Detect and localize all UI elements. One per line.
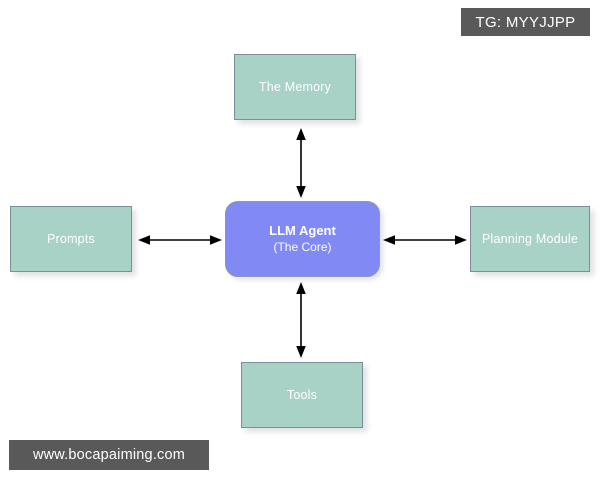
node-planning-module[interactable]: Planning Module bbox=[470, 206, 590, 272]
node-llm-agent-subtitle: (The Core) bbox=[273, 240, 331, 255]
tg-badge: TG: MYYJJPP bbox=[461, 8, 590, 36]
node-the-memory-label: The Memory bbox=[259, 80, 331, 95]
connector-core-to-planning-arrow bbox=[383, 227, 467, 253]
tg-badge-text: TG: MYYJJPP bbox=[476, 14, 576, 31]
website-watermark-text: www.bocapaiming.com bbox=[33, 447, 185, 463]
node-prompts-label: Prompts bbox=[47, 232, 95, 247]
node-prompts[interactable]: Prompts bbox=[10, 206, 132, 272]
node-tools-label: Tools bbox=[287, 388, 317, 403]
node-llm-agent-title: LLM Agent bbox=[269, 223, 336, 239]
node-the-memory[interactable]: The Memory bbox=[234, 54, 356, 120]
node-tools[interactable]: Tools bbox=[241, 362, 363, 428]
website-watermark: www.bocapaiming.com bbox=[9, 440, 209, 470]
connector-core-to-prompts-arrow bbox=[138, 227, 222, 253]
connector-core-to-memory-arrow bbox=[288, 128, 314, 198]
connector-core-to-tools-arrow bbox=[288, 282, 314, 358]
diagram-canvas: The Memory Prompts Planning Module Tools… bbox=[0, 0, 600, 480]
node-planning-module-label: Planning Module bbox=[482, 232, 578, 247]
node-llm-agent-core[interactable]: LLM Agent (The Core) bbox=[225, 201, 380, 277]
